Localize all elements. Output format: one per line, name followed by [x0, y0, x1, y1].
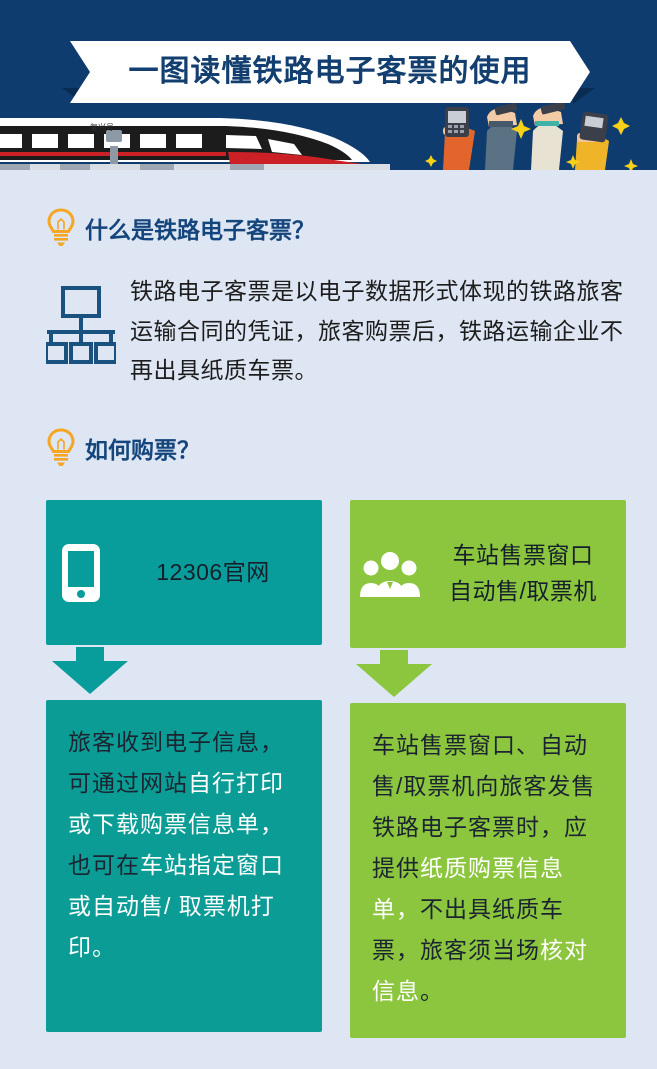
channel-label-line2: 自动售/取票机: [449, 578, 597, 604]
channel-card-online[interactable]: 12306官网: [46, 500, 322, 645]
intro-block: 铁路电子客票是以电子数据形式体现的铁路旅客运输合同的凭证，旅客购票后，铁路运输企…: [46, 272, 626, 391]
detail-segment: 也可在: [68, 852, 140, 878]
people-group-icon: [360, 551, 420, 597]
flow-column-station: 车站售票窗口 自动售/取票机 车站售票窗口、自动售/取票机向旅客发售铁路电子客票…: [350, 500, 626, 1038]
detail-card-online: 旅客收到电子信息，可通过网站自行打印或下载购票信息单，也可在车站指定窗口或自动售…: [46, 700, 322, 1032]
channel-label-station: 车站售票窗口 自动售/取票机: [430, 538, 616, 609]
section-heading-how-to-buy: 如何购票？: [46, 428, 200, 468]
section-heading-label: 什么是铁路电子客票？: [85, 211, 315, 245]
train-illustration: 复兴号: [0, 108, 390, 170]
down-arrow-teal: [46, 647, 322, 700]
lightbulb-icon: [46, 208, 76, 248]
flow-column-online: 12306官网 旅客收到电子信息，可通过网站自行打印或下载购票信息单，也可在车站…: [46, 500, 322, 1032]
network-chart-icon: [46, 284, 116, 366]
down-arrow-green: [350, 650, 626, 703]
channel-label-online: 12306官网: [118, 555, 308, 591]
lightbulb-icon: [46, 428, 76, 468]
channel-card-station[interactable]: 车站售票窗口 自动售/取票机: [350, 500, 626, 648]
section-heading-what-is: 什么是铁路电子客票？: [46, 208, 315, 248]
channel-label-line1: 车站售票窗口: [453, 542, 594, 568]
header-banner: 复兴号: [0, 0, 657, 170]
detail-card-station: 车站售票窗口、自动售/取票机向旅客发售铁路电子客票时，应提供纸质购票信息单，不出…: [350, 703, 626, 1038]
intro-paragraph: 铁路电子客票是以电子数据形式体现的铁路旅客运输合同的凭证，旅客购票后，铁路运输企…: [130, 272, 626, 391]
train-label: 复兴号: [90, 122, 114, 132]
section-heading-label: 如何购票？: [85, 431, 200, 465]
page-title: 一图读懂铁路电子客票的使用: [129, 57, 532, 87]
detail-segment: 。: [420, 978, 444, 1004]
raised-hands-illustration: [425, 103, 650, 170]
smartphone-icon: [60, 542, 102, 604]
title-ribbon: 一图读懂铁路电子客票的使用: [70, 41, 590, 103]
